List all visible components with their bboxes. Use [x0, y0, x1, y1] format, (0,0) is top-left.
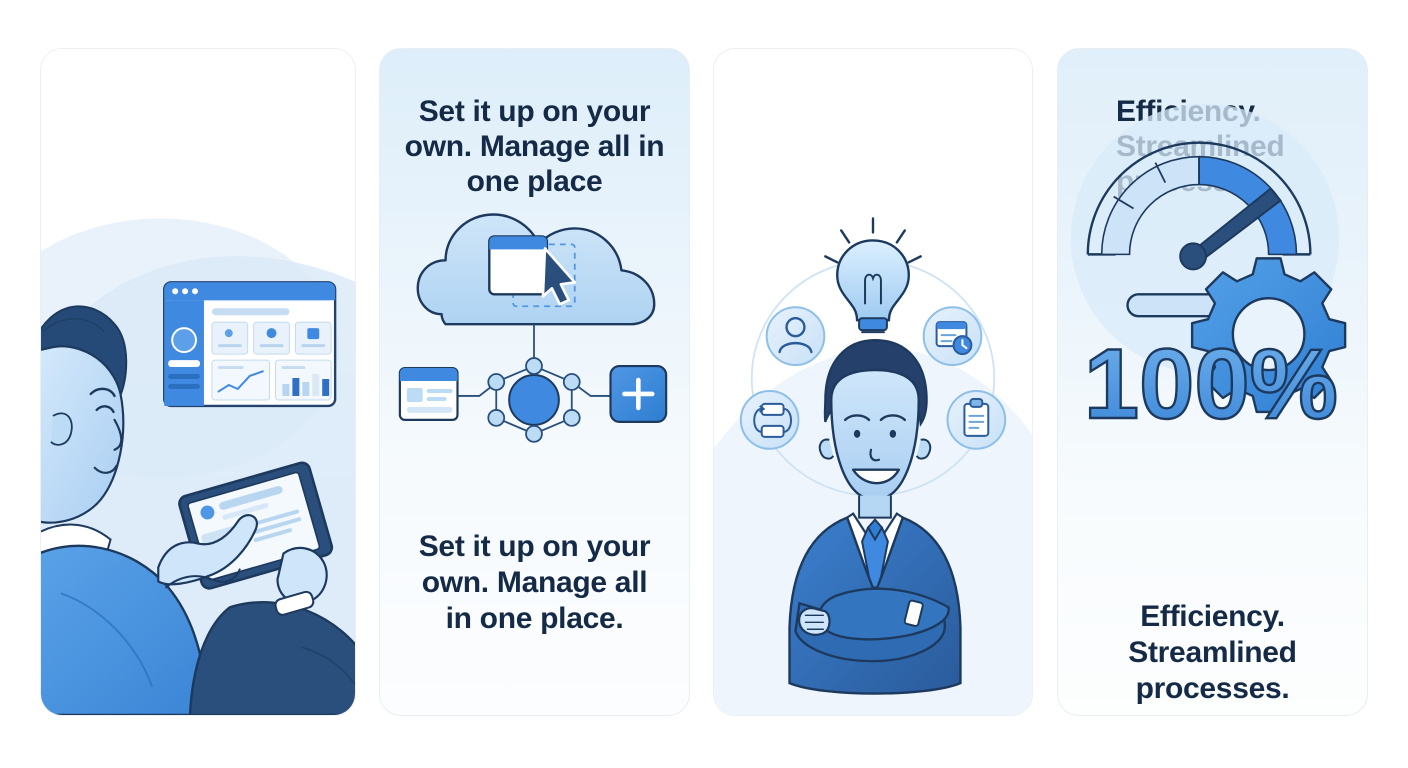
card-4-footline: Efficiency. Streamlined processes. [1058, 599, 1367, 707]
workflow-icon [741, 391, 799, 449]
cloud-window-graphic [489, 236, 547, 294]
card-widget-graphic [400, 368, 458, 420]
person-with-tablet-and-dashboard-illustration [41, 49, 355, 715]
dashboard-window-graphic [164, 282, 335, 406]
user-icon [767, 307, 825, 365]
calendar-clock-icon [924, 307, 982, 365]
clipboard-icon [948, 391, 1006, 449]
slide-canvas: Easy HR Management Software [0, 0, 1408, 768]
card-efficiency[interactable]: Efficiency. Streamlined processes. [1057, 48, 1368, 716]
network-hub-graphic [488, 358, 579, 442]
card-hr-software[interactable]: Easy HR Management Software [40, 48, 356, 716]
card-simplify[interactable]: We significantly simplify your life [713, 48, 1033, 716]
card-setup[interactable]: Set it up on your own. Manage all in one… [379, 48, 690, 716]
plus-button [611, 366, 667, 422]
card-2-footline: Set it up on your own. Manage all in one… [380, 529, 689, 637]
businessman-with-feature-icons-illustration [714, 49, 1032, 715]
percentage-label: 100% [1084, 329, 1338, 440]
